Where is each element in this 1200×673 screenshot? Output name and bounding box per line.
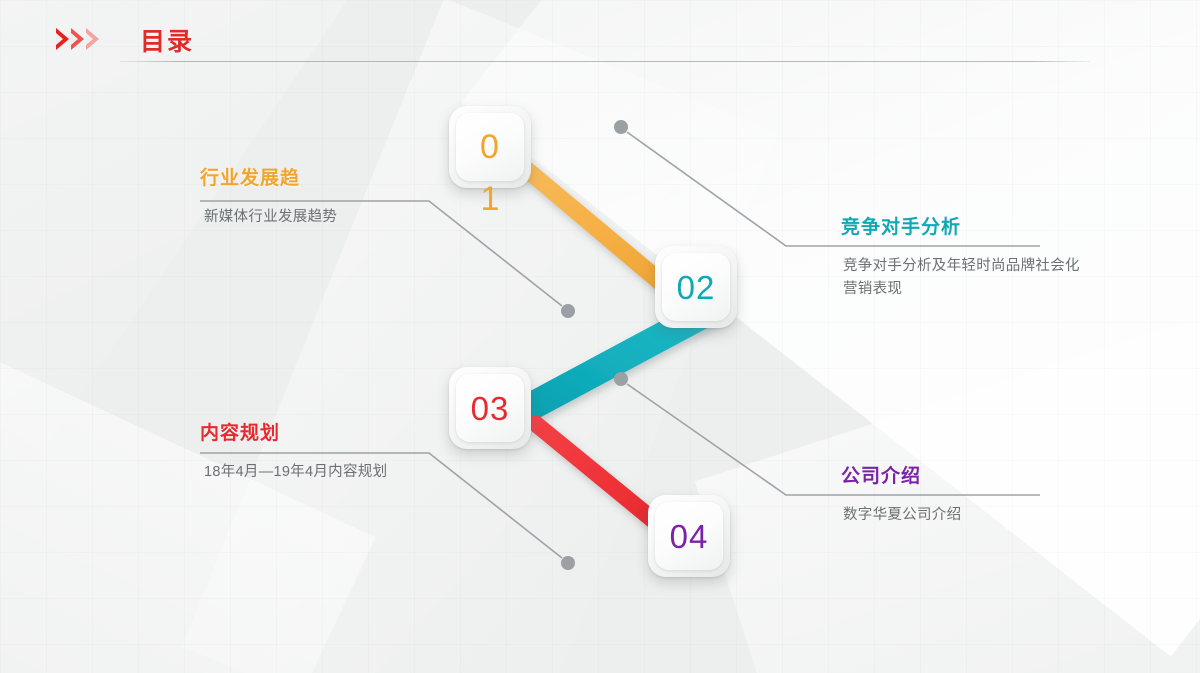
connector-lines (0, 0, 1200, 673)
number-card-04[interactable]: 04 (648, 495, 730, 577)
item-01-description: 新媒体行业发展趋势 (204, 206, 460, 229)
number-card-02[interactable]: 02 (655, 246, 737, 328)
number-card-01-digit: 0 (480, 130, 500, 164)
item-04-description: 数字华夏公司介绍 (843, 504, 1091, 527)
number-card-02-inner: 02 (662, 253, 730, 321)
item-03-text-block: 内容规划 18年4月—19年4月内容规划 (200, 418, 450, 484)
number-card-04-inner: 04 (655, 502, 723, 570)
item-04-text-block: 公司介绍 数字华夏公司介绍 (841, 461, 1091, 527)
item-01-heading: 行业发展趋 (200, 163, 460, 190)
item-02-text-block: 竞争对手分析 竞争对手分析及年轻时尚品牌社会化营销表现 (841, 212, 1091, 302)
item-02-description: 竞争对手分析及年轻时尚品牌社会化营销表现 (843, 255, 1091, 302)
item-02-heading: 竞争对手分析 (841, 212, 1091, 239)
number-card-01-inner: 0 (456, 113, 524, 181)
number-card-03-digit: 03 (471, 392, 510, 425)
number-card-02-digit: 02 (677, 271, 716, 304)
number-card-01[interactable]: 0 1 (449, 106, 531, 188)
item-04-heading: 公司介绍 (841, 461, 1091, 488)
item-03-description: 18年4月—19年4月内容规划 (204, 461, 450, 484)
item-03-heading: 内容规划 (200, 418, 450, 445)
slide-canvas: 目录 (0, 0, 1200, 673)
number-card-04-digit: 04 (670, 520, 709, 553)
number-card-03[interactable]: 03 (449, 367, 531, 449)
number-card-01-digit-overflow: 1 (449, 182, 531, 216)
number-card-03-inner: 03 (456, 374, 524, 442)
item-01-text-block: 行业发展趋 新媒体行业发展趋势 (200, 163, 460, 229)
